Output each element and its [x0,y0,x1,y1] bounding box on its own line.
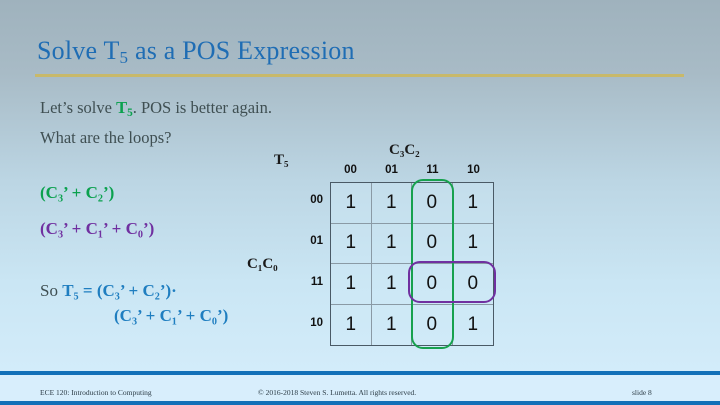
kmap-cell-r2c1: 1 [372,264,413,305]
kmap-col-header-0: 00 [330,164,371,176]
kmap-cell-r3c2: 0 [412,305,453,346]
kmap-cell-r0c1: 1 [372,183,413,224]
kmap-cell-r1c3: 1 [453,224,494,265]
kmap-col-header-2: 11 [412,164,453,176]
slide-canvas: Solve T5 as a POS Expression Let’s solve… [0,0,720,405]
footer-slide-number: slide 8 [632,388,652,397]
intro-target-symbol: T [116,98,127,117]
kmap-cell-r2c3: 0 [453,264,494,305]
footer-bottom-rule [0,401,720,405]
intro-pre: Let’s solve [40,98,116,117]
kmap-cell-r3c0: 1 [331,305,372,346]
expression-purple-loop: (C₃’ + C₁’ + C₀’) [40,219,154,239]
result-so-label: So [40,281,62,300]
page-title-pre: Solve T [37,36,120,65]
intro-line-1: Let’s solve T5. POS is better again. [40,98,272,119]
result-expression-line1: T₅ = (C₃’ + C₂’)· [62,281,177,300]
intro-post: . POS is better again. [133,98,272,117]
footer-course-name: ECE 120: Introduction to Computing [40,388,152,397]
page-title-subscript: 5 [120,48,129,67]
kmap-row-header-2: 11 [293,276,323,288]
kmap-col-header-3: 10 [453,164,494,176]
kmap-row-variable-label: C₁C₀ [247,256,278,273]
kmap-cell-r3c1: 1 [372,305,413,346]
page-title: Solve T5 as a POS Expression [37,36,355,68]
kmap-col-header-1: 01 [371,164,412,176]
kmap-row-header-0: 00 [293,194,323,206]
kmap-row-header-3: 10 [293,317,323,329]
expression-green-loop: (C₃’ + C₂’) [40,183,114,203]
kmap-cell-r0c3: 1 [453,183,494,224]
kmap-cell-r1c1: 1 [372,224,413,265]
footer-copyright: © 2016-2018 Steven S. Lumetta. All right… [258,388,416,397]
result-expression-line2: (C₃’ + C₁’ + C₀’) [114,306,228,326]
result-line-1: So T₅ = (C₃’ + C₂’)· [40,281,177,301]
kmap-cell-r0c2: 0 [412,183,453,224]
title-divider [35,74,684,77]
page-title-post: as a POS Expression [128,36,354,65]
kmap-cell-r1c2: 0 [412,224,453,265]
kmap-function-label: T₅ [274,152,289,169]
karnaugh-map: T₅ C₃C₂ C₁C₀ 00 01 11 10 00 01 11 10 1 1… [243,140,503,355]
kmap-column-variable-label: C₃C₂ [389,142,420,159]
kmap-row-header-1: 01 [293,235,323,247]
kmap-cell-r1c0: 1 [331,224,372,265]
intro-line-2: What are the loops? [40,128,171,148]
kmap-cell-r3c3: 1 [453,305,494,346]
kmap-grid: 1 1 0 1 1 1 0 1 1 1 0 0 1 1 0 1 [330,182,494,346]
kmap-cell-r0c0: 1 [331,183,372,224]
kmap-cell-r2c0: 1 [331,264,372,305]
kmap-cell-r2c2: 0 [412,264,453,305]
